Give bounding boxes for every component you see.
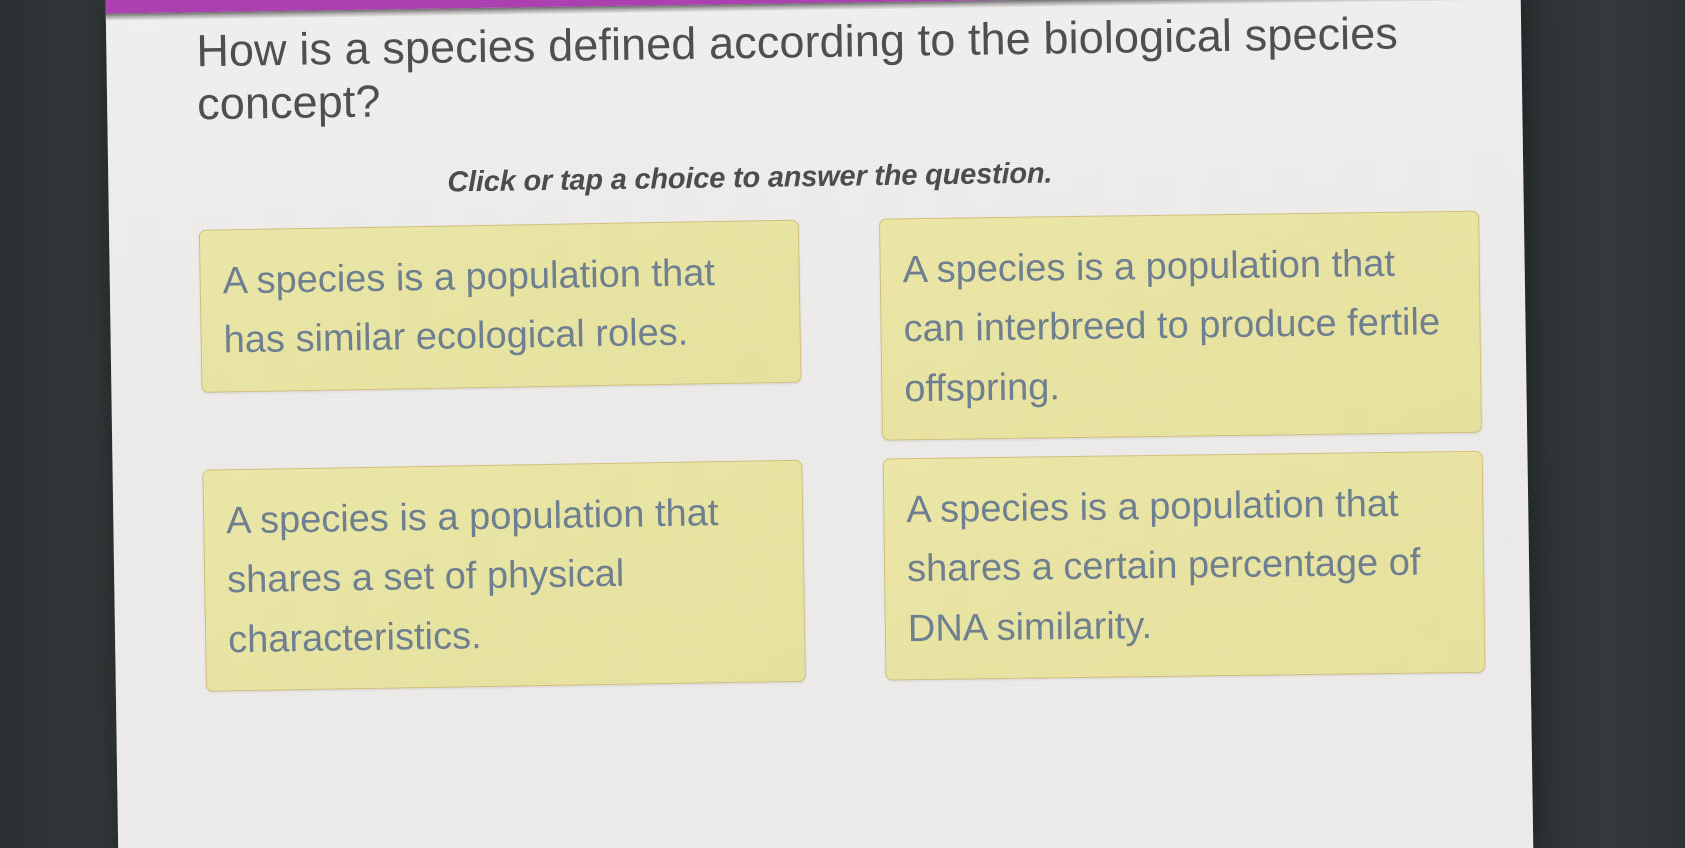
answer-choice-d[interactable]: A species is a population that shares a …: [883, 451, 1486, 680]
instruction-text: Click or tap a choice to answer the ques…: [198, 152, 1451, 204]
answer-choice-a[interactable]: A species is a population that has simil…: [199, 220, 802, 393]
answer-choice-d-label: A species is a population that shares a …: [906, 483, 1421, 650]
question-title: How is a species defined according to th…: [196, 7, 1427, 131]
screen-surface: How is a species defined according to th…: [106, 0, 1534, 848]
answer-choice-grid: A species is a population that has simil…: [199, 211, 1459, 691]
answer-choice-c-label: A species is a population that shares a …: [226, 492, 719, 661]
answer-choice-c[interactable]: A species is a population that shares a …: [202, 460, 806, 692]
answer-choice-b[interactable]: A species is a population that can inter…: [879, 211, 1482, 441]
photographed-screen: How is a species defined according to th…: [0, 0, 1685, 848]
answer-choice-a-label: A species is a population that has simil…: [222, 252, 715, 362]
question-content: How is a species defined according to th…: [106, 0, 1531, 692]
answer-choice-b-label: A species is a population that can inter…: [903, 243, 1441, 410]
